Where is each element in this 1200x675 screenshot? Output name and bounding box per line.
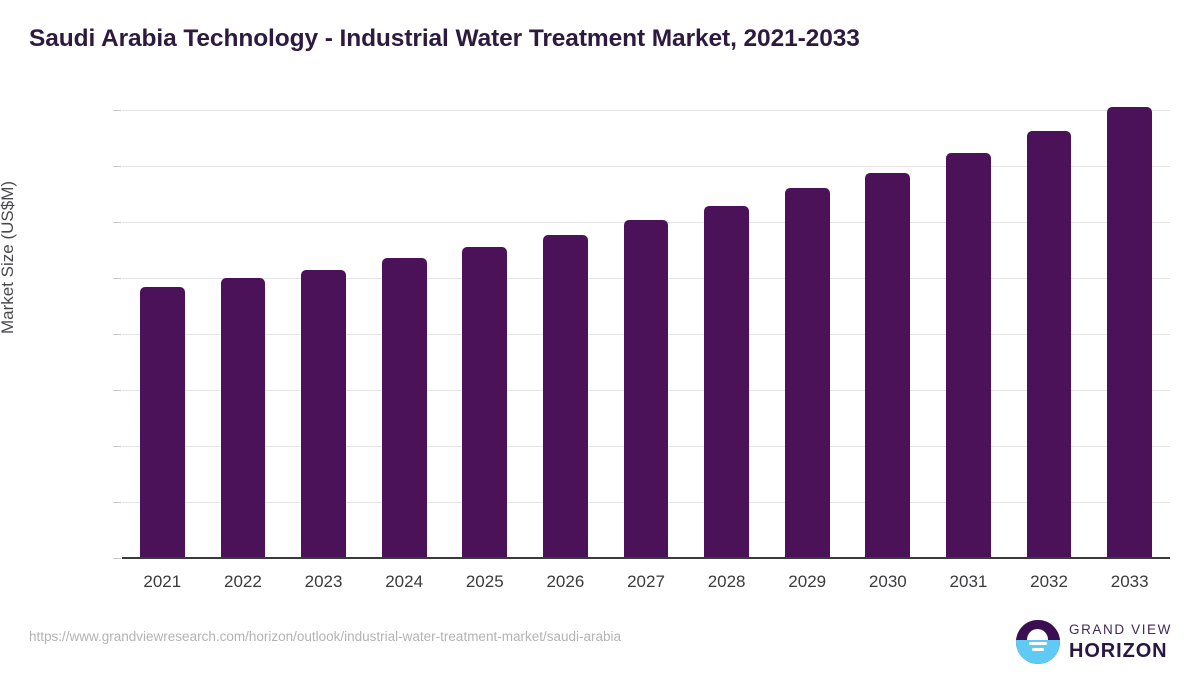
bar[interactable] <box>704 206 749 558</box>
bar[interactable] <box>140 287 185 558</box>
brand-wordmark: GRAND VIEW HORIZON <box>1069 623 1172 661</box>
y-tick-mark <box>113 334 121 335</box>
y-tick-mark <box>113 110 121 111</box>
plot-area: 025050075010001250150017502000 <box>122 110 1170 558</box>
logo-ray-upper <box>1029 642 1047 645</box>
horizon-sun-circle-icon <box>1016 620 1060 664</box>
bar[interactable] <box>1107 107 1152 558</box>
x-tick-label: 2032 <box>1030 572 1068 592</box>
source-url[interactable]: https://www.grandviewresearch.com/horizo… <box>29 629 621 644</box>
x-tick-label: 2028 <box>708 572 746 592</box>
bar[interactable] <box>1027 131 1072 558</box>
x-tick-label: 2027 <box>627 572 665 592</box>
gridline <box>122 110 1170 111</box>
bar[interactable] <box>301 270 346 559</box>
x-axis-line <box>122 557 1170 559</box>
bar[interactable] <box>382 258 427 558</box>
y-tick-mark <box>113 558 121 559</box>
x-tick-label: 2022 <box>224 572 262 592</box>
y-tick-mark <box>113 502 121 503</box>
x-tick-label: 2025 <box>466 572 504 592</box>
y-tick-mark <box>113 390 121 391</box>
page-title: Saudi Arabia Technology - Industrial Wat… <box>29 25 860 53</box>
brand-logo[interactable]: GRAND VIEW HORIZON <box>1016 620 1172 664</box>
brand-line-1: GRAND VIEW <box>1069 623 1172 637</box>
x-tick-label: 2023 <box>305 572 343 592</box>
chart-page: Saudi Arabia Technology - Industrial Wat… <box>0 0 1200 675</box>
gridline <box>122 166 1170 167</box>
bar[interactable] <box>785 188 830 558</box>
y-tick-mark <box>113 166 121 167</box>
bar[interactable] <box>865 173 910 558</box>
y-tick-mark <box>113 278 121 279</box>
logo-ray-lower <box>1032 648 1044 651</box>
x-tick-label: 2031 <box>950 572 988 592</box>
y-axis-title: Market Size (US$M) <box>0 181 18 334</box>
x-tick-label: 2026 <box>546 572 584 592</box>
bar[interactable] <box>462 247 507 558</box>
x-tick-label: 2029 <box>788 572 826 592</box>
x-tick-label: 2030 <box>869 572 907 592</box>
bar[interactable] <box>946 153 991 558</box>
x-tick-label: 2024 <box>385 572 423 592</box>
bar[interactable] <box>543 235 588 558</box>
y-tick-mark <box>113 446 121 447</box>
x-tick-label: 2033 <box>1111 572 1149 592</box>
y-tick-mark <box>113 222 121 223</box>
bar[interactable] <box>624 220 669 558</box>
x-tick-label: 2021 <box>143 572 181 592</box>
bar[interactable] <box>221 278 266 558</box>
brand-line-2: HORIZON <box>1069 641 1172 661</box>
